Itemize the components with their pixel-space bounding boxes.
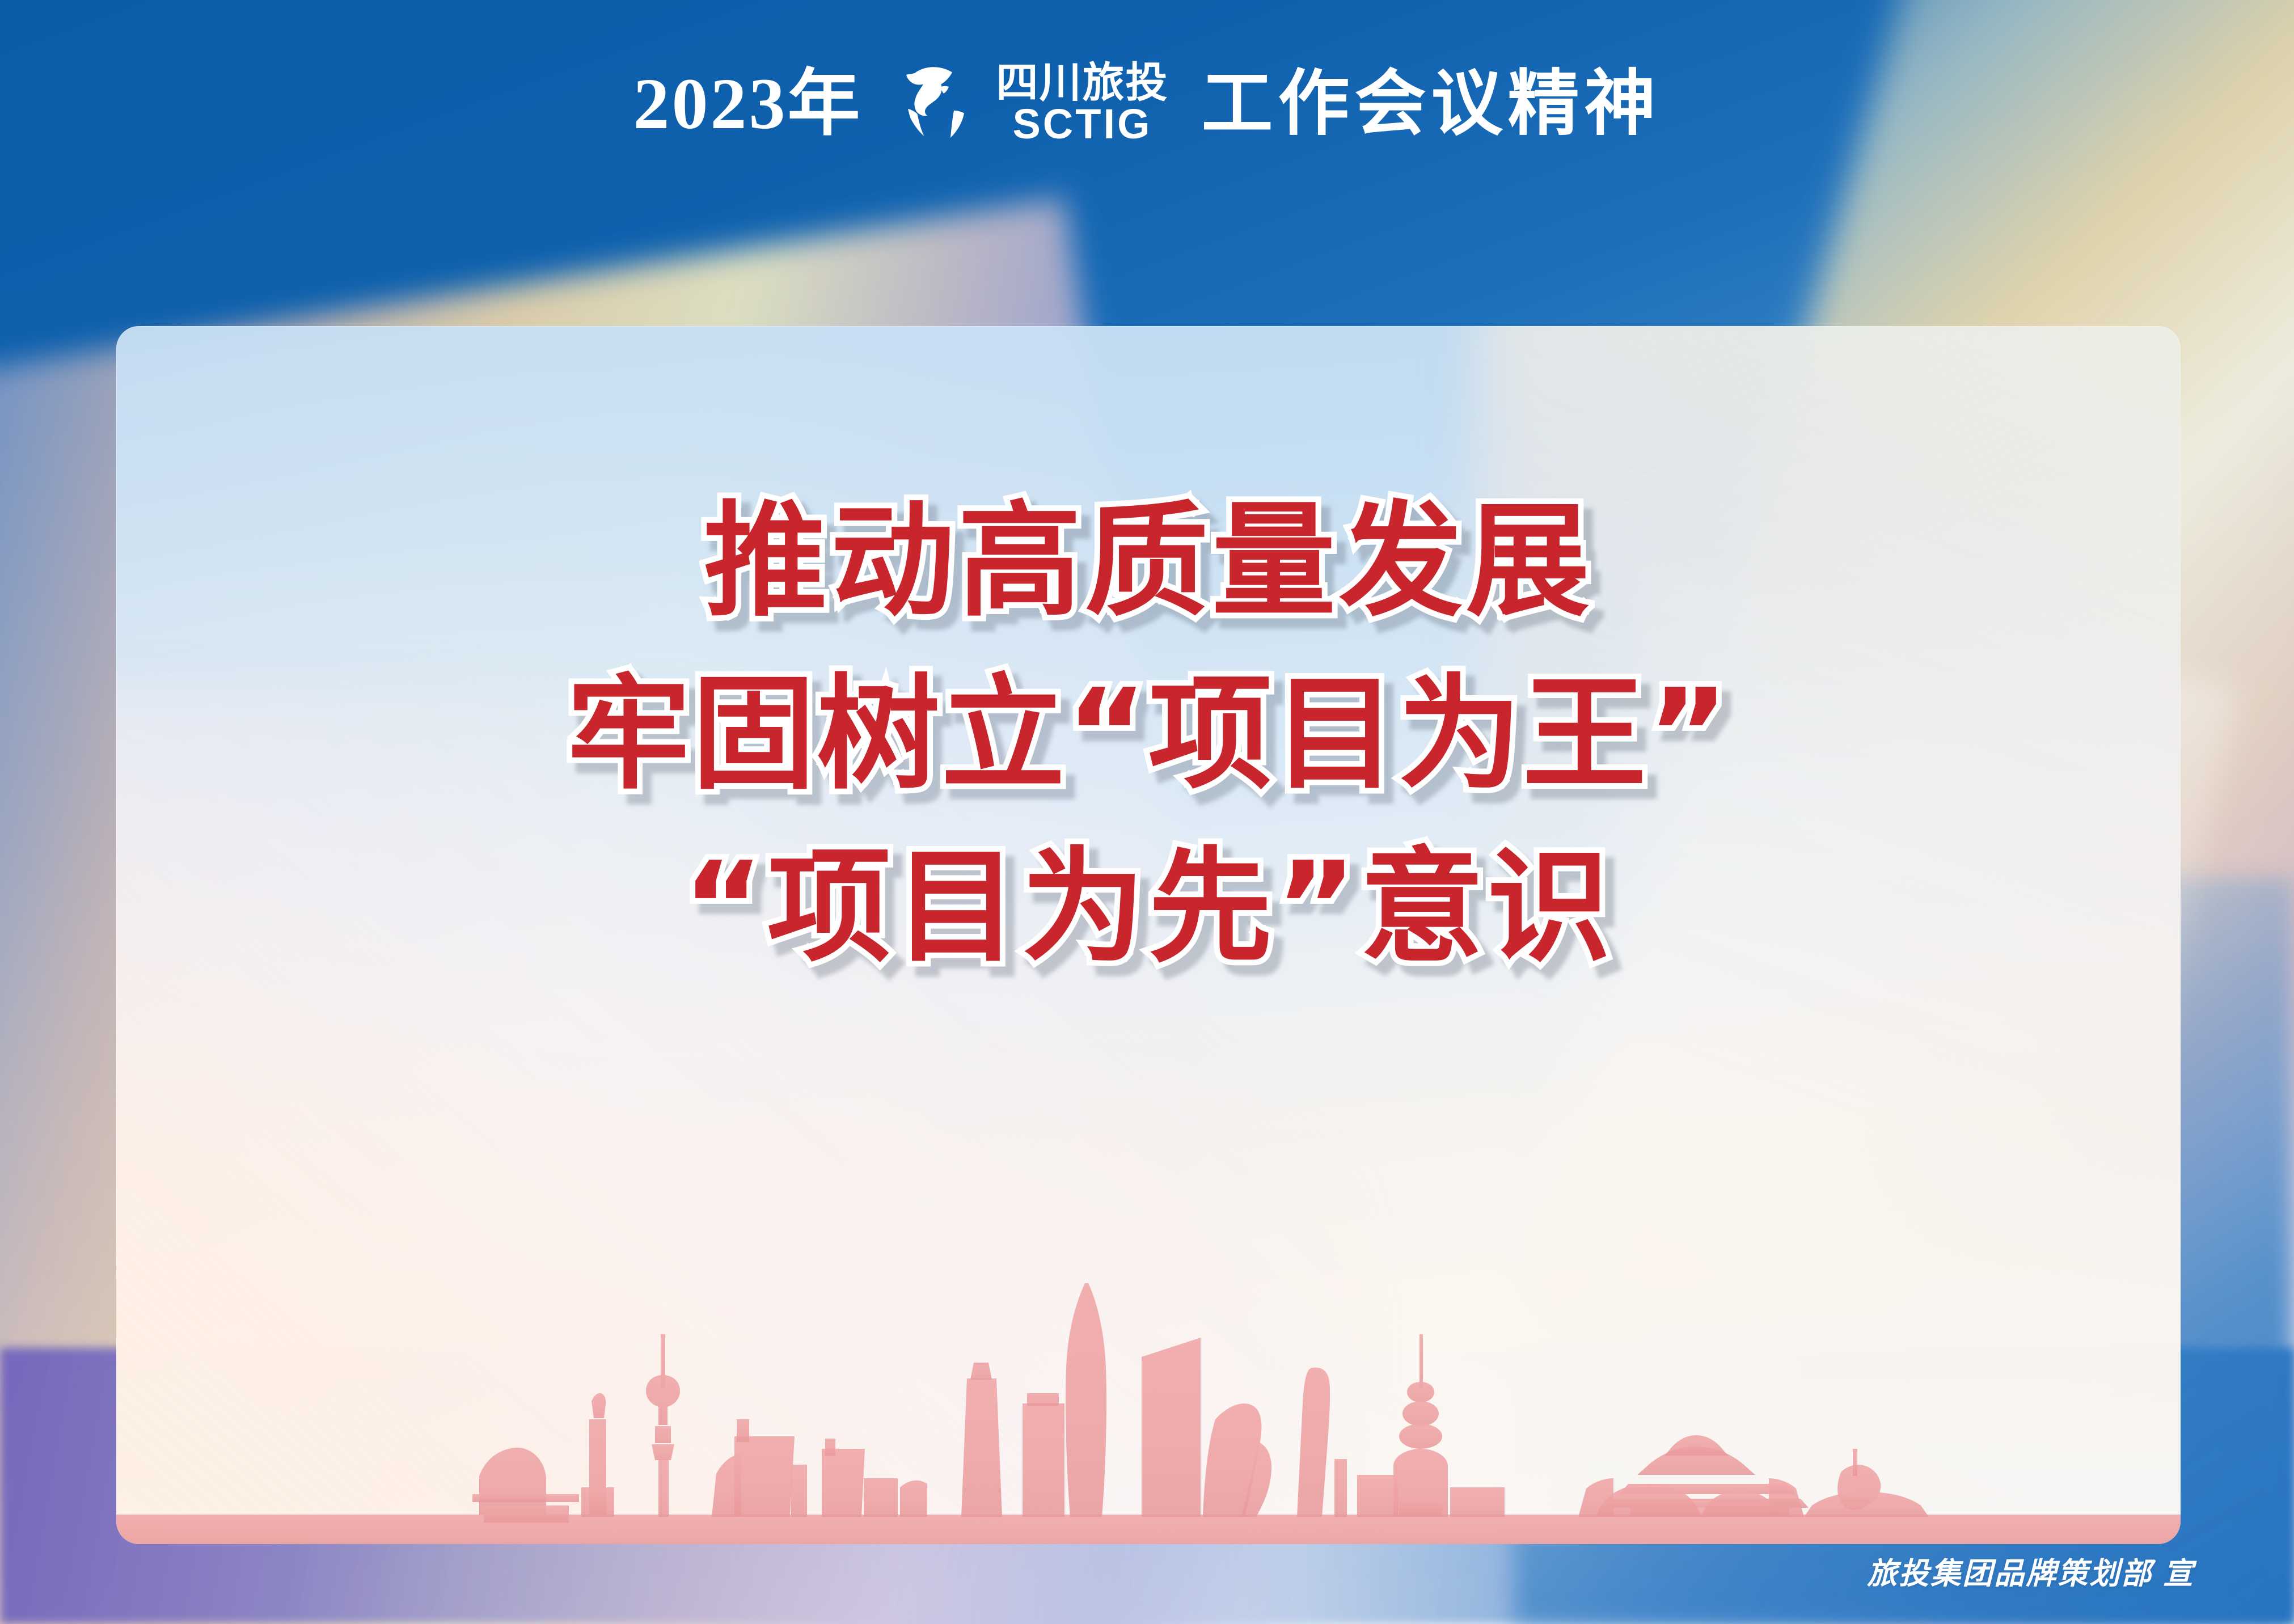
brand-wordmark: 四川旅投 SCTIG [996,62,1169,145]
headline-block: 推动高质量发展 牢固树立“项目为王” “项目为先”意识 [116,490,2181,980]
year-label: 2023年 [633,67,863,140]
content-card: 推动高质量发展 牢固树立“项目为王” “项目为先”意识 [116,326,2181,1544]
headline-line-3: “项目为先”意识 [683,836,1615,980]
footer-credit: 旅投集团品牌策划部 宣 [1867,1550,2195,1593]
header-title: 工作会议精神 [1202,68,1661,139]
headline-line-2: 牢固树立“项目为王” [567,663,1730,807]
poster-root: 2023年 四川旅投 SCTIG 工作会议精神 [0,0,2294,1624]
brand-lockup: 四川旅投 SCTIG [895,61,1169,146]
brand-en-name: SCTIG [1012,104,1152,145]
headline-line-1: 推动高质量发展 [704,490,1593,634]
sctig-panda-globe-icon [895,61,982,146]
poster-header: 2023年 四川旅投 SCTIG 工作会议精神 [0,0,2294,326]
city-skyline-illustration [116,1249,2181,1544]
brand-cn-name: 四川旅投 [996,62,1169,104]
